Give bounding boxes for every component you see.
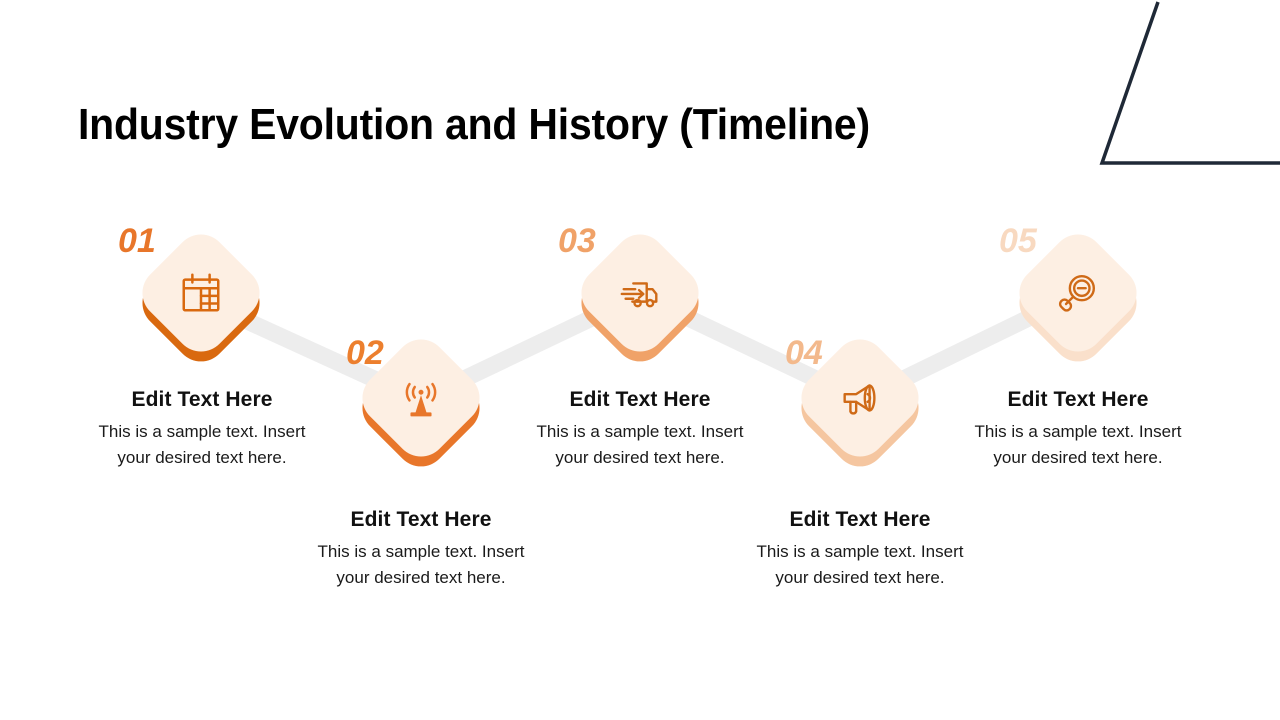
- calendar-icon: [178, 270, 224, 316]
- step-number-2: 02: [346, 334, 384, 373]
- caption-3-title: Edit Text Here: [524, 388, 756, 412]
- caption-1-body: This is a sample text. Insert your desir…: [86, 419, 318, 471]
- step-number-4: 04: [785, 334, 823, 373]
- magnifier-minus-icon: [1055, 270, 1101, 316]
- caption-2-body: This is a sample text. Insert your desir…: [305, 539, 537, 591]
- caption-2: Edit Text Here This is a sample text. In…: [305, 508, 537, 591]
- caption-4-body: This is a sample text. Insert your desir…: [744, 539, 976, 591]
- step-number-3: 03: [558, 222, 596, 261]
- caption-3: Edit Text Here This is a sample text. In…: [524, 388, 756, 471]
- caption-5-body: This is a sample text. Insert your desir…: [962, 419, 1194, 471]
- caption-4-title: Edit Text Here: [744, 508, 976, 532]
- step-number-1: 01: [118, 222, 156, 261]
- caption-1-title: Edit Text Here: [86, 388, 318, 412]
- broadcast-tower-icon: [398, 375, 444, 421]
- caption-5-title: Edit Text Here: [962, 388, 1194, 412]
- step-number-5: 05: [999, 222, 1037, 261]
- delivery-truck-icon: [617, 270, 663, 316]
- caption-5: Edit Text Here This is a sample text. In…: [962, 388, 1194, 471]
- slide-canvas: Industry Evolution and History (Timeline…: [0, 0, 1280, 720]
- caption-2-title: Edit Text Here: [305, 508, 537, 532]
- caption-1: Edit Text Here This is a sample text. In…: [86, 388, 318, 471]
- megaphone-icon: [837, 375, 883, 421]
- caption-3-body: This is a sample text. Insert your desir…: [524, 419, 756, 471]
- caption-4: Edit Text Here This is a sample text. In…: [744, 508, 976, 591]
